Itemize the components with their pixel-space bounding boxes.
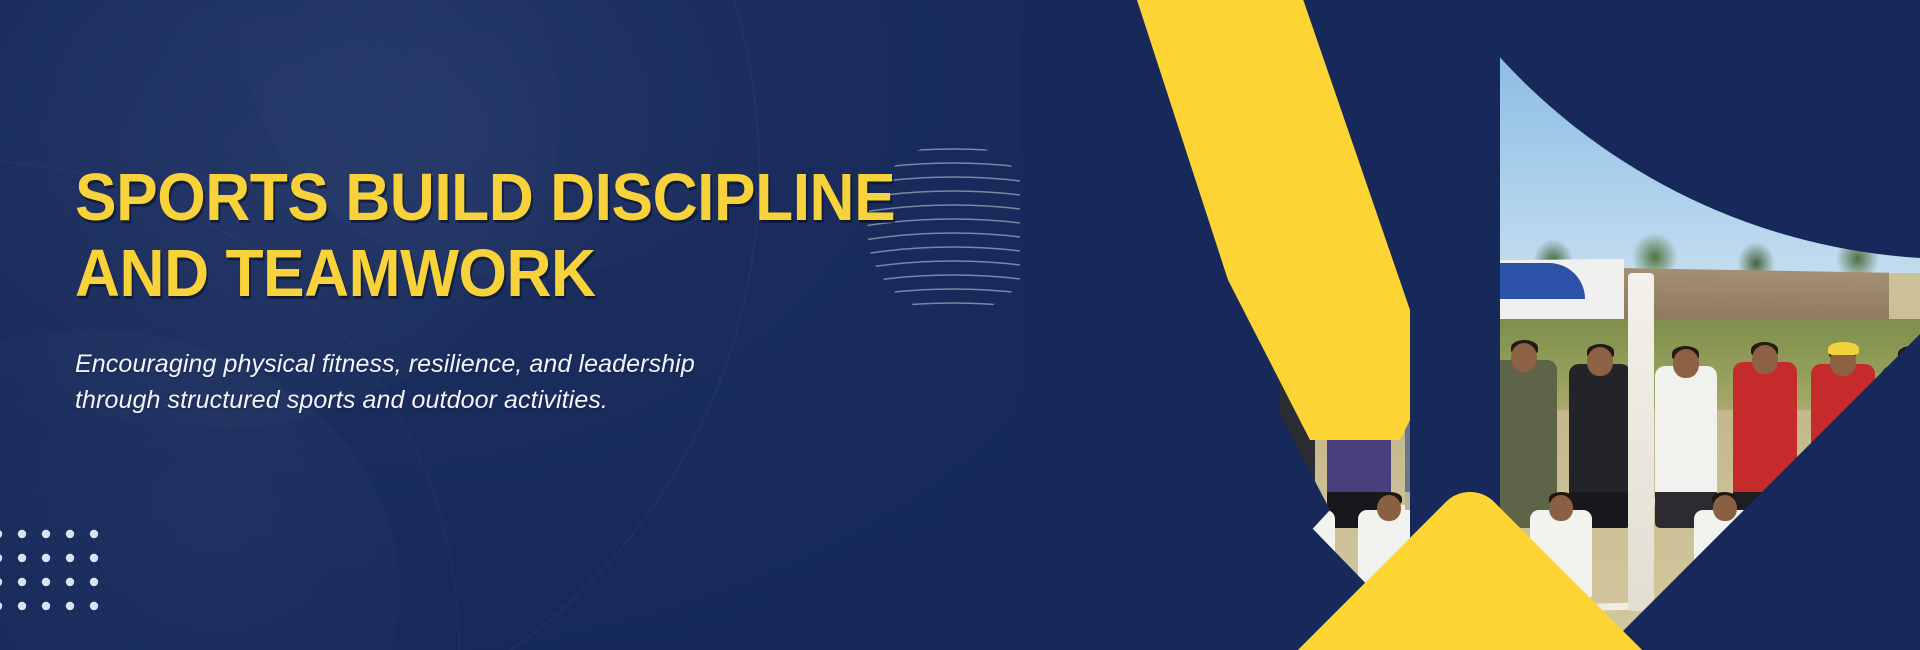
photo-white-banner-pole [1628, 273, 1654, 611]
photo-person [1195, 512, 1255, 598]
banner-media [1020, 0, 1920, 650]
photo-person [1444, 510, 1506, 598]
photo-person [1858, 512, 1918, 598]
dot-grid-icon [0, 524, 104, 616]
photo-person [1811, 364, 1875, 494]
photo-person [1569, 364, 1631, 494]
sports-hero-banner: SPORTS BUILD DISCIPLINE AND TEAMWORK Enc… [0, 0, 1920, 650]
photo-person [1405, 358, 1475, 494]
photo-person [1530, 510, 1592, 598]
photo-person [1733, 362, 1797, 494]
banner-subtitle: Encouraging physical fitness, resilience… [75, 347, 975, 418]
photo-person [1881, 366, 1920, 494]
photo-person [1655, 366, 1717, 494]
team-photo [1140, 0, 1920, 650]
photo-person [1327, 364, 1391, 494]
photo-person [1491, 360, 1557, 494]
photo-person [1273, 510, 1335, 598]
banner-headline: SPORTS BUILD DISCIPLINE AND TEAMWORK [75, 160, 912, 311]
photo-person [1171, 366, 1233, 494]
photo-person [1780, 510, 1842, 598]
banner-copy: SPORTS BUILD DISCIPLINE AND TEAMWORK Enc… [75, 160, 975, 418]
photo-person [1249, 362, 1315, 494]
photo-canvas [1140, 0, 1920, 650]
photo-person [1358, 510, 1420, 598]
photo-person [1694, 510, 1756, 598]
photo-board-arch [1460, 263, 1585, 299]
